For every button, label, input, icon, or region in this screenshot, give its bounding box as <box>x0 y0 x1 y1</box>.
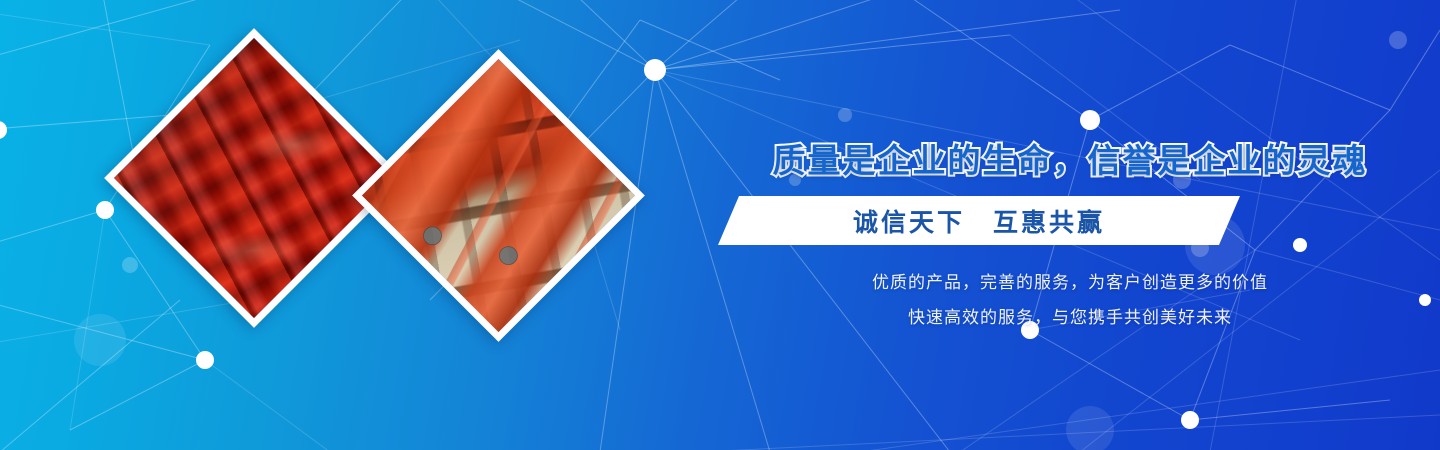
product-photo-universal-joint-shafts <box>104 28 404 328</box>
product-photo-pallets <box>352 49 645 342</box>
photo-image-pallets <box>352 49 645 342</box>
slogan-ribbon-text: 诚信天下 互惠共赢 <box>718 196 1240 245</box>
promo-banner: 质量是企业的生命，信誉是企业的灵魂 诚信天下 互惠共赢 优质的产品，完善的服务，… <box>0 0 1440 450</box>
banner-subline-1: 优质的产品，完善的服务，为客户创造更多的价值 <box>700 268 1440 293</box>
banner-copy-block: 质量是企业的生命，信誉是企业的灵魂 诚信天下 互惠共赢 优质的产品，完善的服务，… <box>700 0 1440 450</box>
banner-headline: 质量是企业的生命，信誉是企业的灵魂 <box>700 134 1440 182</box>
photo-image-shafts <box>104 28 404 328</box>
banner-subline-2: 快速高效的服务，与您携手共创美好未来 <box>700 303 1440 328</box>
slogan-ribbon: 诚信天下 互惠共赢 <box>718 196 1240 245</box>
